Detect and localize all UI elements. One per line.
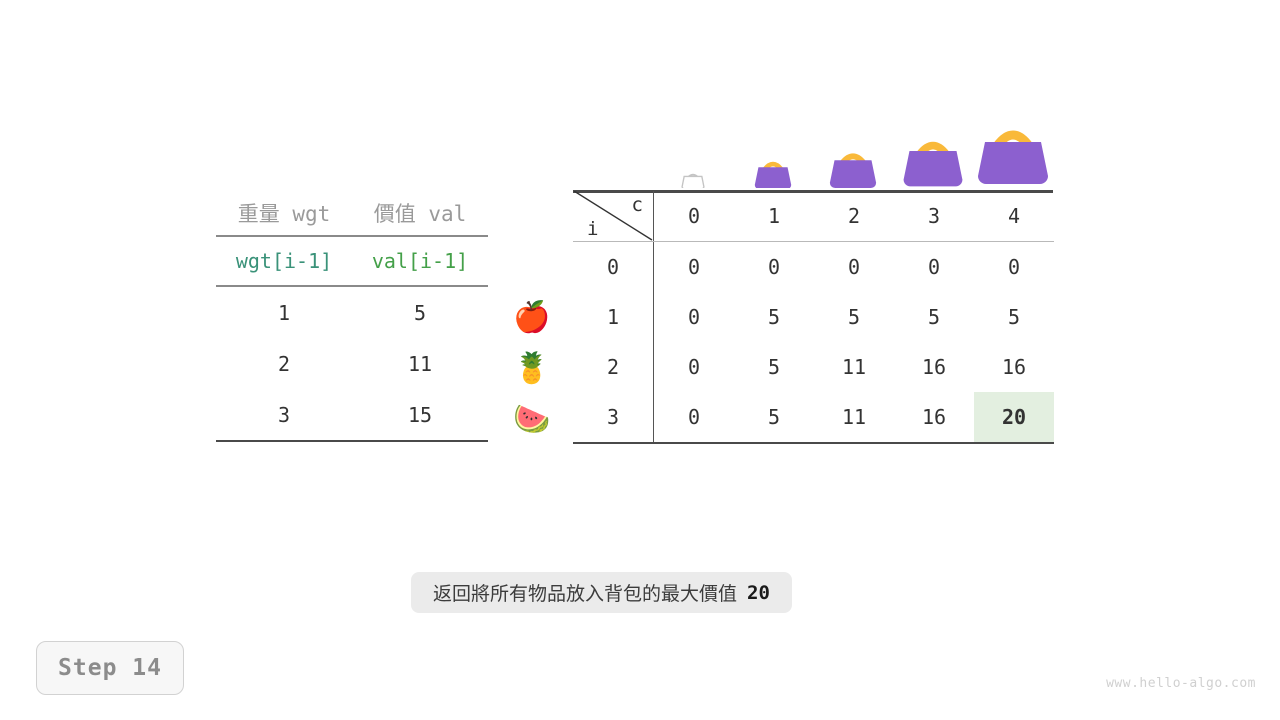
dp-row-header: 3	[573, 392, 654, 443]
item-weight-cell: 3	[216, 389, 352, 441]
dp-cell: 0	[654, 392, 735, 443]
items-header-value: 價值 val	[352, 190, 488, 236]
dp-cell: 16	[894, 392, 974, 443]
item-weight-cell: 2	[216, 338, 352, 389]
dp-cell: 0	[814, 242, 894, 293]
bag-icon-capacity-1	[733, 152, 813, 188]
items-table-row: 2 11	[216, 338, 488, 389]
dp-row-header: 1	[573, 292, 654, 342]
dp-cell: 11	[814, 342, 894, 392]
dp-cell: 11	[814, 392, 894, 443]
dp-header-row: c i 0 1 2 3 4	[573, 191, 1054, 242]
item-value-cell: 15	[352, 389, 488, 441]
dp-table: c i 0 1 2 3 4 0 0 0 0 0 0 1 0 5	[573, 191, 1054, 444]
watermelon-icon: 🍉	[512, 400, 552, 440]
dp-capacity-header: 2	[814, 191, 894, 242]
bag-icon-capacity-3	[893, 132, 973, 188]
dp-row-axis-label: i	[587, 218, 598, 240]
dp-cell: 5	[974, 292, 1054, 342]
dp-table-row: 2 0 5 11 16 16	[573, 342, 1054, 392]
dp-cell: 0	[654, 342, 735, 392]
items-table-row: 1 5	[216, 286, 488, 338]
bag-icon-capacity-4	[973, 122, 1053, 188]
dp-col-axis-label: c	[632, 194, 643, 216]
caption-text: 返回將所有物品放入背包的最大價值	[433, 579, 737, 606]
dp-row-header: 2	[573, 342, 654, 392]
dp-table-row: 0 0 0 0 0 0	[573, 242, 1054, 293]
items-table-row: 3 15	[216, 389, 488, 441]
items-subheader-wgt: wgt[i-1]	[216, 236, 352, 286]
item-weight-cell: 1	[216, 286, 352, 338]
items-header-weight: 重量 wgt	[216, 190, 352, 236]
step-badge-label: Step 14	[58, 655, 162, 681]
dp-table-row: 1 0 5 5 5 5	[573, 292, 1054, 342]
items-table: 重量 wgt 價值 val wgt[i-1] val[i-1] 1 5 2 11…	[216, 190, 488, 442]
dp-capacity-header: 3	[894, 191, 974, 242]
dp-cell: 0	[894, 242, 974, 293]
dp-cell: 0	[654, 292, 735, 342]
slide-canvas: 重量 wgt 價值 val wgt[i-1] val[i-1] 1 5 2 11…	[0, 0, 1280, 720]
dp-cell: 16	[974, 342, 1054, 392]
apple-icon: 🍎	[512, 298, 552, 338]
caption-banner: 返回將所有物品放入背包的最大價值 20	[411, 572, 792, 613]
dp-cell: 5	[734, 392, 814, 443]
items-subheader-val: val[i-1]	[352, 236, 488, 286]
dp-cell: 5	[814, 292, 894, 342]
step-badge: Step 14	[36, 641, 184, 695]
bag-icon-capacity-0	[653, 164, 733, 188]
dp-cell: 5	[734, 292, 814, 342]
dp-cell: 16	[894, 342, 974, 392]
dp-cell: 5	[894, 292, 974, 342]
item-value-cell: 5	[352, 286, 488, 338]
bag-icons-row	[653, 120, 1053, 188]
items-table-subheader-row: wgt[i-1] val[i-1]	[216, 236, 488, 286]
dp-cell-highlighted: 20	[974, 392, 1054, 443]
dp-capacity-header: 1	[734, 191, 814, 242]
bag-icon-capacity-2	[813, 144, 893, 188]
items-table-header-row: 重量 wgt 價值 val	[216, 190, 488, 236]
item-value-cell: 11	[352, 338, 488, 389]
dp-cell: 0	[654, 242, 735, 293]
dp-cell: 0	[974, 242, 1054, 293]
dp-row-header: 0	[573, 242, 654, 293]
pineapple-icon: 🍍	[512, 349, 552, 389]
dp-capacity-header: 4	[974, 191, 1054, 242]
dp-cell: 5	[734, 342, 814, 392]
caption-value: 20	[747, 582, 770, 604]
dp-capacity-header: 0	[654, 191, 735, 242]
dp-cell: 0	[734, 242, 814, 293]
dp-corner-cell: c i	[573, 191, 654, 242]
dp-table-row: 3 0 5 11 16 20	[573, 392, 1054, 443]
watermark: www.hello-algo.com	[1106, 676, 1256, 691]
